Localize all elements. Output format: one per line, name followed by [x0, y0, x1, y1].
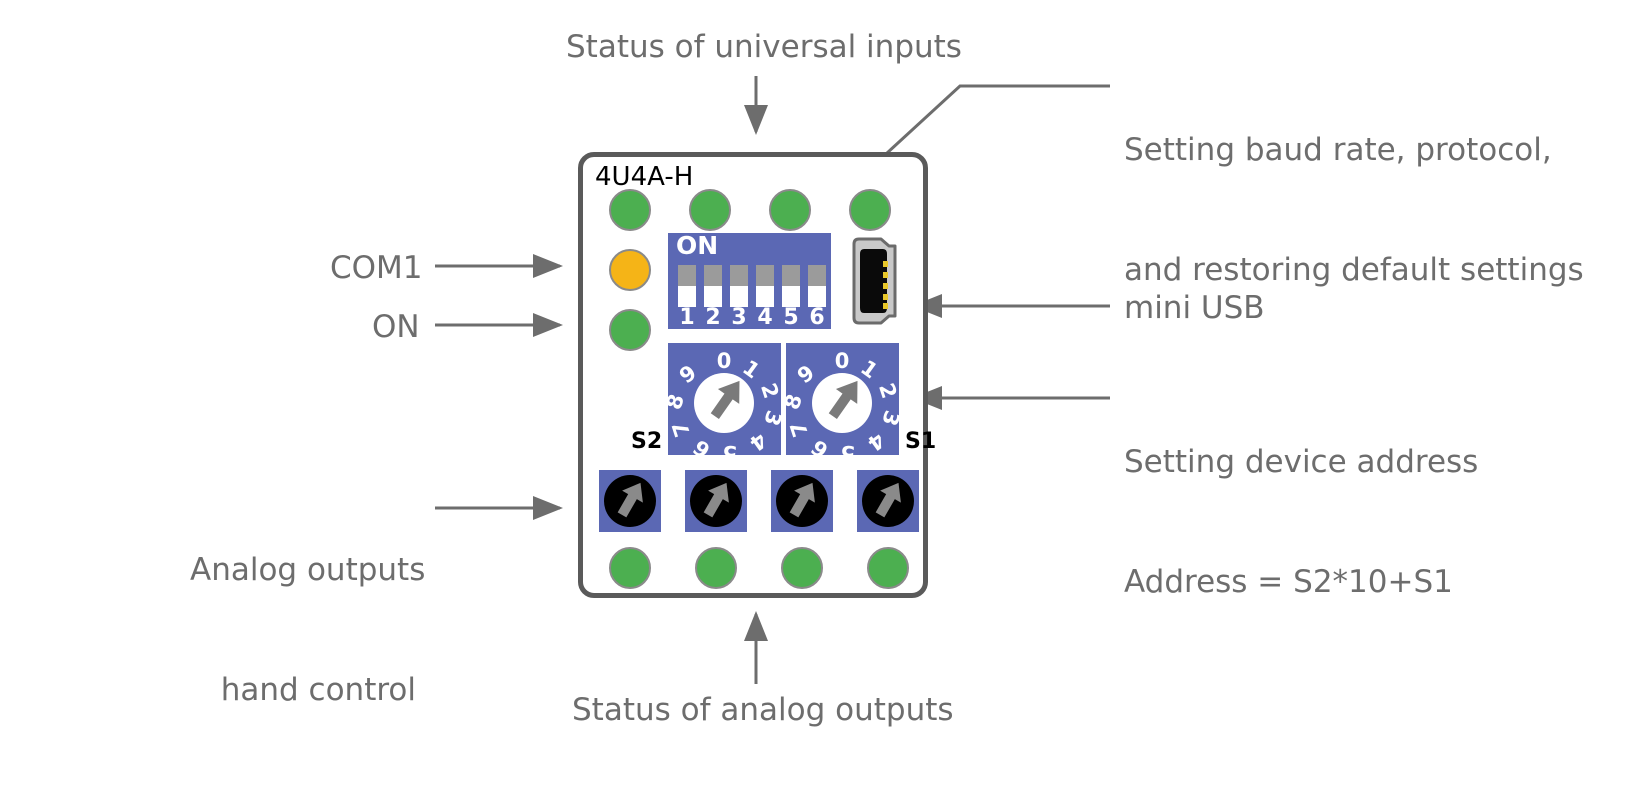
dip-switch-label-6: 6 — [808, 305, 826, 330]
dip-switch-6[interactable] — [808, 265, 826, 307]
svg-text:5: 5 — [723, 441, 738, 455]
led-universal-input-1 — [609, 189, 651, 231]
svg-text:8: 8 — [668, 391, 689, 412]
rotary-switch-s1[interactable]: 0 1 2 3 4 5 6 7 8 9 — [786, 343, 899, 455]
annotation-com1: COM1 — [330, 248, 423, 288]
device-model-label: 4U4A-H — [595, 162, 693, 192]
rotary-switch-s2[interactable]: 0 1 2 3 4 5 6 7 8 9 — [668, 343, 781, 455]
led-com1 — [609, 249, 651, 291]
hand-control-knob-4[interactable] — [857, 470, 919, 532]
dip-switch-label-2: 2 — [704, 305, 722, 330]
dip-switch-1-top — [678, 265, 696, 286]
svg-text:4: 4 — [745, 428, 771, 455]
dip-on-label: ON — [676, 231, 718, 260]
dip-switch-2[interactable] — [704, 265, 722, 307]
svg-text:0: 0 — [835, 349, 850, 373]
hand-control-knob-3[interactable] — [771, 470, 833, 532]
svg-text:6: 6 — [689, 435, 715, 455]
svg-text:3: 3 — [877, 408, 899, 429]
annotation-analog-hand-control: Analog outputs hand control — [190, 470, 416, 790]
annotation-analog-outputs: Status of analog outputs — [572, 690, 954, 730]
rotary-switch-s1-label: S1 — [905, 429, 936, 454]
dip-switch-5-bottom — [782, 286, 800, 307]
svg-text:2: 2 — [874, 380, 899, 401]
annotation-on: ON — [372, 307, 420, 347]
svg-text:9: 9 — [793, 360, 819, 388]
annotation-mini-usb: mini USB — [1124, 288, 1265, 328]
led-power-on — [609, 309, 651, 351]
rotary-switch-s2-label: S2 — [631, 429, 662, 454]
dip-switch-6-top — [808, 265, 826, 286]
svg-text:7: 7 — [786, 419, 813, 440]
dip-switch-label-5: 5 — [782, 305, 800, 330]
svg-text:4: 4 — [863, 428, 889, 455]
svg-text:9: 9 — [675, 360, 701, 388]
dip-switch-2-bottom — [704, 286, 722, 307]
dip-switch-4-top — [756, 265, 774, 286]
svg-text:8: 8 — [786, 391, 807, 412]
annotation-analog-hand-line1: Analog outputs — [190, 550, 416, 590]
dip-switch-3-top — [730, 265, 748, 286]
svg-text:3: 3 — [759, 408, 781, 429]
led-analog-output-3 — [781, 547, 823, 589]
dip-switch-label-4: 4 — [756, 305, 774, 330]
dip-switch-block[interactable]: ON — [668, 233, 831, 329]
led-analog-output-1 — [609, 547, 651, 589]
dip-switch-3-bottom — [730, 286, 748, 307]
dip-switch-label-3: 3 — [730, 305, 748, 330]
dip-switch-3[interactable] — [730, 265, 748, 307]
led-universal-input-2 — [689, 189, 731, 231]
diagram-canvas: Status of universal inputs Setting baud … — [0, 0, 1648, 796]
annotation-device-address-line2: Address = S2*10+S1 — [1124, 562, 1478, 602]
hand-control-knob-2[interactable] — [685, 470, 747, 532]
dip-switch-5[interactable] — [782, 265, 800, 307]
dip-switch-label-1: 1 — [678, 305, 696, 330]
led-analog-output-4 — [867, 547, 909, 589]
dip-switch-5-top — [782, 265, 800, 286]
annotation-analog-hand-line2: hand control — [190, 670, 416, 710]
dip-switch-6-bottom — [808, 286, 826, 307]
dip-switch-1-bottom — [678, 286, 696, 307]
led-analog-output-2 — [695, 547, 737, 589]
annotation-baud-rate-line1: Setting baud rate, protocol, — [1124, 130, 1584, 170]
led-universal-input-3 — [769, 189, 811, 231]
annotation-device-address: Setting device address Address = S2*10+S… — [1124, 362, 1478, 682]
svg-text:6: 6 — [807, 435, 833, 455]
svg-text:0: 0 — [717, 349, 732, 373]
device-panel: 4U4A-H ON — [578, 152, 928, 598]
dip-switch-4[interactable] — [756, 265, 774, 307]
hand-control-knob-1[interactable] — [599, 470, 661, 532]
annotation-universal-inputs: Status of universal inputs — [566, 27, 962, 67]
annotation-baud-rate-line2: and restoring default settings — [1124, 250, 1584, 290]
dip-switch-2-top — [704, 265, 722, 286]
svg-text:2: 2 — [756, 380, 781, 401]
annotation-device-address-line1: Setting device address — [1124, 442, 1478, 482]
svg-text:7: 7 — [668, 419, 695, 440]
dip-switch-1[interactable] — [678, 265, 696, 307]
svg-text:5: 5 — [841, 441, 856, 455]
dip-switch-4-bottom — [756, 286, 774, 307]
mini-usb-port[interactable] — [851, 235, 903, 327]
led-universal-input-4 — [849, 189, 891, 231]
